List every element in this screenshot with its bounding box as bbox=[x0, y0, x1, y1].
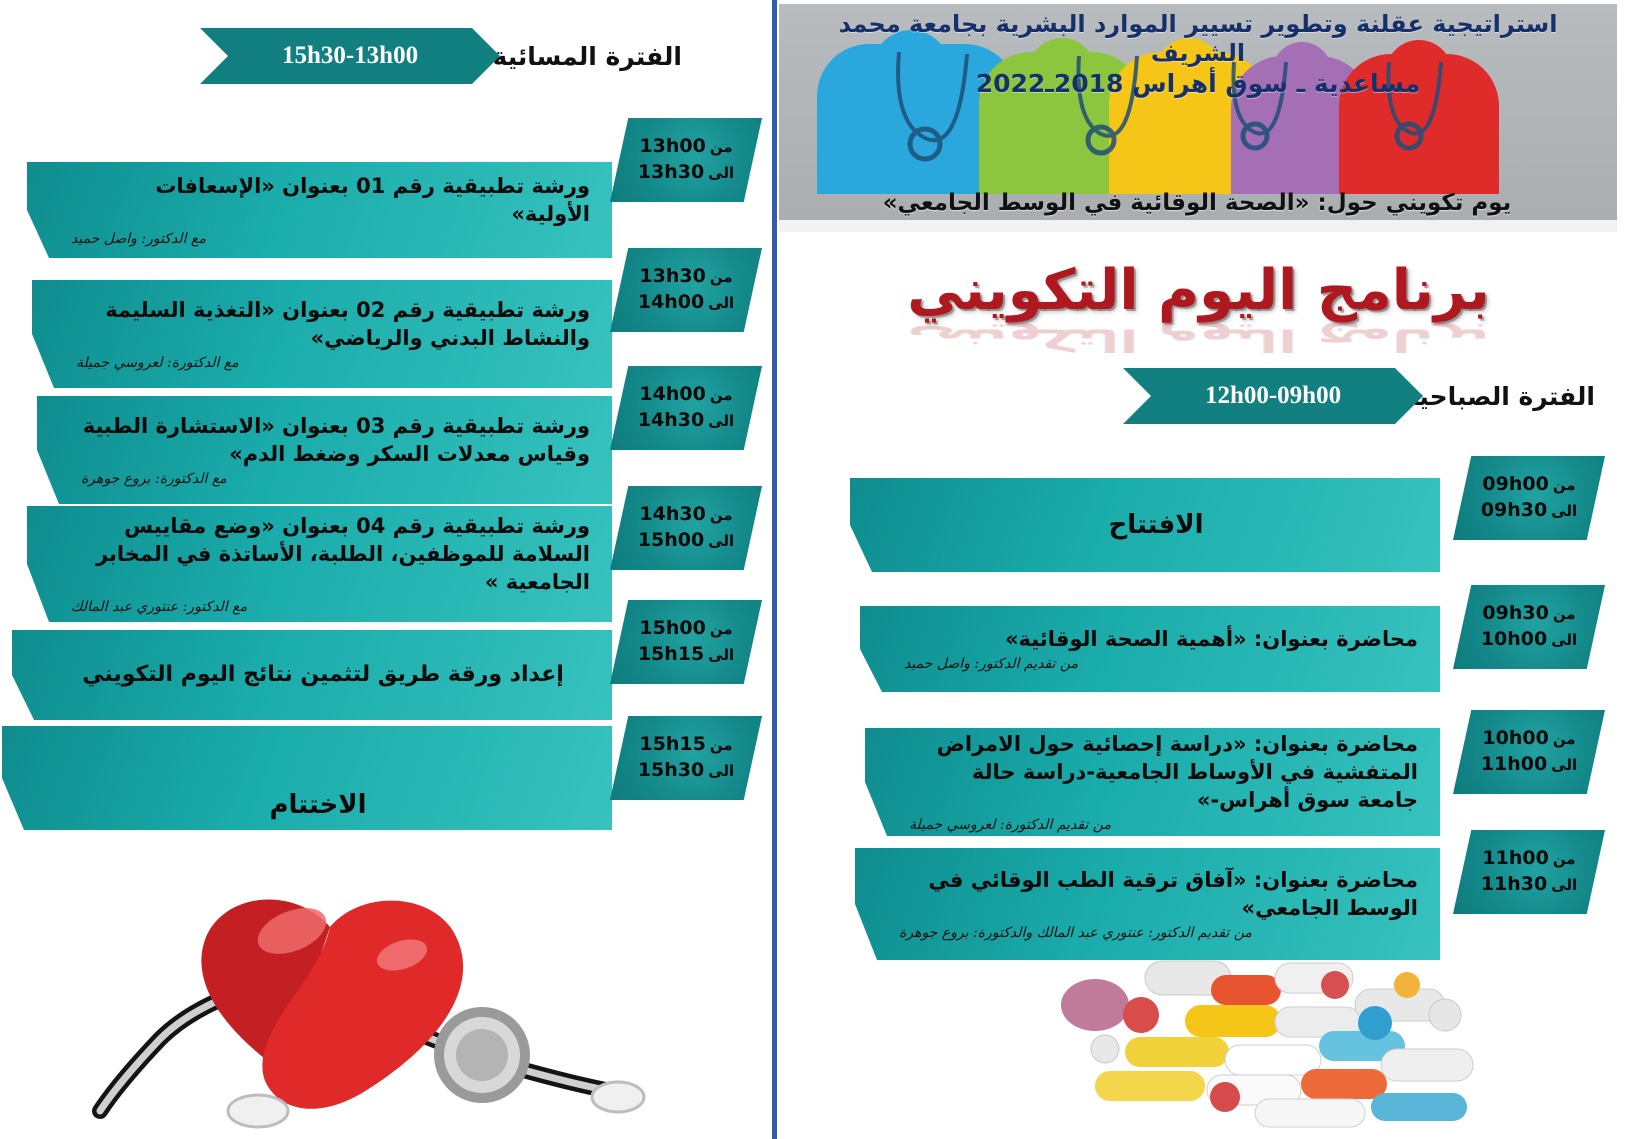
time-to-label: الى bbox=[708, 411, 734, 431]
banner-title: استراتيجية عقلنة وتطوير تسيير الموارد ال… bbox=[793, 10, 1603, 99]
afternoon-time-chip: من 15h15 الى 15h30 bbox=[610, 716, 762, 800]
time-to-value: 14h00 bbox=[638, 290, 704, 316]
row-title: محاضرة بعنوان: «دراسة إحصائية حول الامرا… bbox=[909, 731, 1418, 814]
row-title: ورشة تطبيقية رقم 03 بعنوان «الاستشارة ال… bbox=[81, 413, 590, 468]
time-to-value: 14h30 bbox=[638, 408, 704, 434]
time-to-label: الى bbox=[1551, 755, 1577, 775]
time-to-label: الى bbox=[708, 293, 734, 313]
time-to-value: 13h30 bbox=[638, 160, 704, 186]
row-presenter: من تقديم الدكتور: واصل حميد bbox=[904, 656, 1418, 672]
time-from-label: من bbox=[1553, 729, 1576, 749]
row-presenter: مع الدكتور: عنتوري عبد المالك bbox=[71, 599, 590, 615]
afternoon-row-band[interactable]: ورشة تطبيقية رقم 03 بعنوان «الاستشارة ال… bbox=[37, 396, 612, 504]
time-to-value: 09h30 bbox=[1481, 498, 1547, 524]
afternoon-row-band[interactable]: الاختتام bbox=[2, 726, 612, 830]
morning-time-chip: من 09h30 الى 10h00 bbox=[1453, 585, 1605, 669]
time-from-label: من bbox=[1553, 604, 1576, 624]
time-from-line: من 14h00 bbox=[639, 382, 732, 408]
banner-title-line1: استراتيجية عقلنة وتطوير تسيير الموارد ال… bbox=[793, 10, 1603, 69]
poster-canvas: استراتيجية عقلنة وتطوير تسيير الموارد ال… bbox=[0, 0, 1625, 1139]
row-title: ورشة تطبيقية رقم 02 بعنوان «التغذية السل… bbox=[76, 297, 590, 352]
time-from-value: 11h00 bbox=[1482, 846, 1548, 872]
row-title: محاضرة بعنوان: «أهمية الصحة الوقائية» bbox=[904, 626, 1418, 654]
heart-stethoscope-image bbox=[30, 859, 690, 1129]
row-title: ورشة تطبيقية رقم 04 بعنوان «وضع مقاييس ا… bbox=[71, 513, 590, 596]
afternoon-time-chip: من 13h00 الى 13h30 bbox=[610, 118, 762, 202]
time-to-label: الى bbox=[1551, 875, 1577, 895]
time-from-label: من bbox=[710, 505, 733, 525]
time-to-value: 15h15 bbox=[638, 642, 704, 668]
time-to-value: 10h00 bbox=[1481, 627, 1547, 653]
afternoon-time-chip: من 13h30 الى 14h00 bbox=[610, 248, 762, 332]
time-to-line: الى 15h30 bbox=[638, 758, 734, 784]
time-from-label: من bbox=[710, 619, 733, 639]
row-title: إعداد ورقة طريق لتثمين نتائج اليوم التكو… bbox=[56, 660, 590, 689]
time-from-value: 14h30 bbox=[639, 502, 705, 528]
time-from-label: من bbox=[710, 385, 733, 405]
time-from-value: 09h00 bbox=[1482, 472, 1548, 498]
time-from-line: من 09h30 bbox=[1482, 601, 1575, 627]
morning-row-band[interactable]: محاضرة بعنوان: «آفاق ترقية الطب الوقائي … bbox=[855, 848, 1440, 960]
time-from-label: من bbox=[710, 735, 733, 755]
afternoon-time-chip: من 15h00 الى 15h15 bbox=[610, 600, 762, 684]
morning-column: استراتيجية عقلنة وتطوير تسيير الموارد ال… bbox=[772, 0, 1625, 1139]
time-from-line: من 15h15 bbox=[639, 732, 732, 758]
row-presenter: مع الدكتور: واصل حميد bbox=[71, 231, 590, 247]
time-to-label: الى bbox=[1551, 630, 1577, 650]
afternoon-time-chip: من 14h30 الى 15h00 bbox=[610, 486, 762, 570]
time-to-line: الى 10h00 bbox=[1481, 627, 1577, 653]
afternoon-time-chip: من 14h00 الى 14h30 bbox=[610, 366, 762, 450]
time-to-line: الى 14h00 bbox=[638, 290, 734, 316]
row-title: ورشة تطبيقية رقم 01 بعنوان «الإسعافات ال… bbox=[71, 173, 590, 228]
row-title: الاختتام bbox=[46, 788, 590, 822]
morning-time-chip: من 09h00 الى 09h30 bbox=[1453, 456, 1605, 540]
row-presenter: من تقديم الدكتور: عنتوري عبد المالك والد… bbox=[899, 925, 1418, 941]
morning-row-band[interactable]: الافتتاح bbox=[850, 478, 1440, 572]
time-from-value: 13h00 bbox=[639, 134, 705, 160]
time-to-line: الى 14h30 bbox=[638, 408, 734, 434]
time-from-value: 14h00 bbox=[639, 382, 705, 408]
time-to-value: 15h30 bbox=[638, 758, 704, 784]
time-from-line: من 11h00 bbox=[1482, 846, 1575, 872]
row-presenter: مع الدكتورة: بروع جوهرة bbox=[81, 471, 590, 487]
time-to-line: الى 13h30 bbox=[638, 160, 734, 186]
morning-time-chip: من 10h00 الى 11h00 bbox=[1453, 710, 1605, 794]
time-to-label: الى bbox=[708, 645, 734, 665]
time-from-value: 10h00 bbox=[1482, 726, 1548, 752]
time-from-line: من 10h00 bbox=[1482, 726, 1575, 752]
time-from-value: 13h30 bbox=[639, 264, 705, 290]
time-from-label: من bbox=[1553, 849, 1576, 869]
time-to-line: الى 09h30 bbox=[1481, 498, 1577, 524]
afternoon-row-band[interactable]: ورشة تطبيقية رقم 04 بعنوان «وضع مقاييس ا… bbox=[27, 506, 612, 622]
afternoon-row-band[interactable]: ورشة تطبيقية رقم 02 بعنوان «التغذية السل… bbox=[32, 280, 612, 388]
time-to-label: الى bbox=[1551, 501, 1577, 521]
time-from-line: من 13h30 bbox=[639, 264, 732, 290]
time-from-label: من bbox=[710, 267, 733, 287]
time-from-label: من bbox=[710, 137, 733, 157]
morning-time-chip: من 11h00 الى 11h30 bbox=[1453, 830, 1605, 914]
time-from-value: 09h30 bbox=[1482, 601, 1548, 627]
time-from-value: 15h15 bbox=[639, 732, 705, 758]
banner-title-line2: مساعدية ـ سوق أهراس 2018ـ2022 bbox=[793, 69, 1603, 100]
time-from-line: من 09h00 bbox=[1482, 472, 1575, 498]
afternoon-row-band[interactable]: إعداد ورقة طريق لتثمين نتائج اليوم التكو… bbox=[12, 630, 612, 720]
time-to-line: الى 11h00 bbox=[1481, 752, 1577, 778]
time-to-label: الى bbox=[708, 163, 734, 183]
time-from-line: من 13h00 bbox=[639, 134, 732, 160]
time-to-value: 11h00 bbox=[1481, 752, 1547, 778]
banner-subtitle: يوم تكويني حول: «الصحة الوقائية في الوسط… bbox=[791, 190, 1603, 216]
afternoon-row-band[interactable]: ورشة تطبيقية رقم 01 بعنوان «الإسعافات ال… bbox=[27, 162, 612, 258]
time-to-value: 15h00 bbox=[638, 528, 704, 554]
time-to-line: الى 15h00 bbox=[638, 528, 734, 554]
morning-row-band[interactable]: محاضرة بعنوان: «دراسة إحصائية حول الامرا… bbox=[865, 728, 1440, 836]
morning-row-band[interactable]: محاضرة بعنوان: «أهمية الصحة الوقائية» من… bbox=[860, 606, 1440, 692]
time-from-line: من 14h30 bbox=[639, 502, 732, 528]
time-to-label: الى bbox=[708, 531, 734, 551]
time-from-line: من 15h00 bbox=[639, 616, 732, 642]
row-presenter: مع الدكتورة: لعروسي جميلة bbox=[76, 355, 590, 371]
time-to-line: الى 11h30 bbox=[1481, 872, 1577, 898]
pills-image bbox=[975, 945, 1615, 1135]
afternoon-column: الفترة المسائية 15h30-13h00 ورشة تطبيقية… bbox=[0, 0, 772, 1139]
time-from-value: 15h00 bbox=[639, 616, 705, 642]
time-to-line: الى 15h15 bbox=[638, 642, 734, 668]
row-presenter: من تقديم الدكتورة: لعروسي جميلة bbox=[909, 817, 1418, 833]
row-title: الافتتاح bbox=[894, 508, 1418, 542]
time-to-label: الى bbox=[708, 761, 734, 781]
time-to-value: 11h30 bbox=[1481, 872, 1547, 898]
time-from-label: من bbox=[1553, 475, 1576, 495]
row-title: محاضرة بعنوان: «آفاق ترقية الطب الوقائي … bbox=[899, 867, 1418, 922]
